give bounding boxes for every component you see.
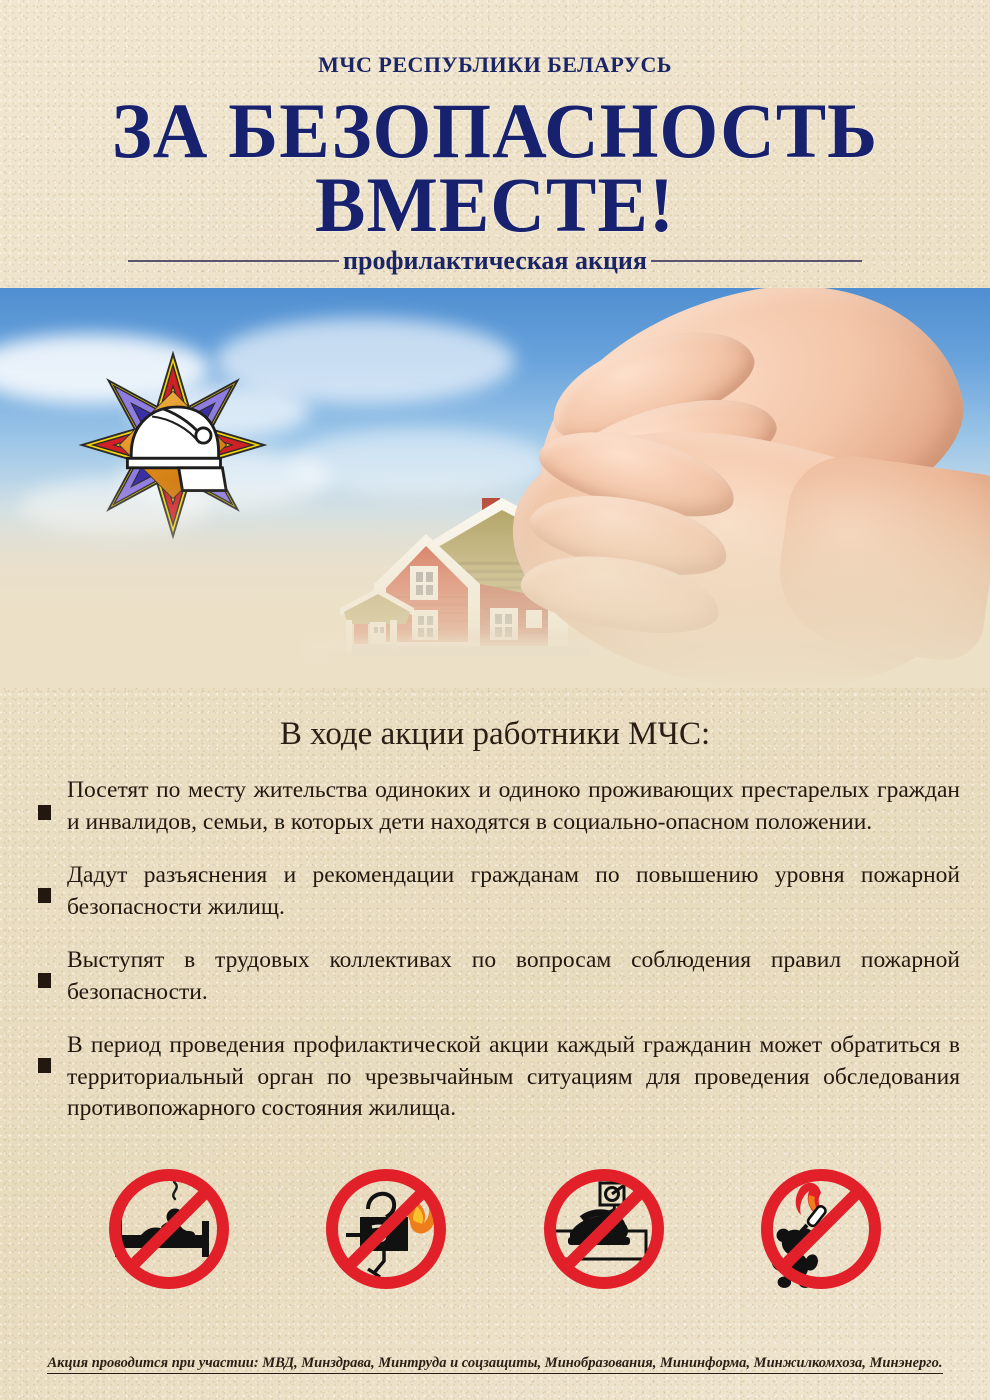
- prohibition-icon-row: [24, 1169, 966, 1289]
- no-children-with-matches-icon: [741, 1169, 901, 1289]
- no-unattended-iron-glyph: [524, 1169, 684, 1289]
- hero-photo-band: [0, 288, 990, 688]
- subtitle-text: профилактическая акция: [339, 246, 651, 276]
- bullet-list: Посетят по месту жительства одиноких и о…: [24, 775, 966, 1124]
- subtitle-rule-left: [128, 260, 339, 262]
- list-item-text: Выступят в трудовых коллективах по вопро…: [67, 945, 966, 1008]
- no-children-with-matches-glyph: [741, 1169, 901, 1289]
- bullet-square-icon: [38, 888, 51, 903]
- list-item-text: Дадут разъяснения и рекомендации граждан…: [67, 860, 966, 923]
- content-area: В ходе акции работники МЧС: Посетят по м…: [0, 716, 990, 1288]
- lead-heading: В ходе акции работники МЧС:: [24, 716, 966, 753]
- page-title: ЗА БЕЗОПАСНОСТЬ ВМЕСТЕ!: [15, 94, 975, 242]
- footer-note: Акция проводится при участии: МВД, Минзд…: [47, 1355, 942, 1374]
- subtitle-row: профилактическая акция: [0, 246, 990, 276]
- subtitle-rule-right: [651, 260, 862, 262]
- list-item: Выступят в трудовых коллективах по вопро…: [24, 945, 966, 1008]
- list-item: В период проведения профилактической акц…: [24, 1030, 966, 1124]
- footer: Акция проводится при участии: МВД, Минзд…: [0, 1354, 990, 1374]
- no-unattended-iron-icon: [524, 1169, 684, 1289]
- list-item-text: Посетят по месту жительства одиноких и о…: [67, 775, 966, 838]
- bullet-square-icon: [38, 805, 51, 820]
- no-faulty-heater-glyph: [306, 1169, 466, 1289]
- photo-bottom-fade: [0, 478, 990, 688]
- no-smoking-in-bed-icon: [89, 1169, 249, 1289]
- no-faulty-heater-icon: [306, 1169, 466, 1289]
- organization-line: МЧС РЕСПУБЛИКИ БЕЛАРУСЬ: [0, 0, 990, 78]
- bullet-square-icon: [38, 973, 51, 988]
- list-item: Дадут разъяснения и рекомендации граждан…: [24, 860, 966, 923]
- poster-page: МЧС РЕСПУБЛИКИ БЕЛАРУСЬ ЗА БЕЗОПАСНОСТЬ …: [0, 0, 990, 1400]
- bullet-square-icon: [38, 1058, 51, 1073]
- no-smoking-in-bed-glyph: [89, 1169, 249, 1289]
- list-item-text: В период проведения профилактической акц…: [67, 1030, 966, 1124]
- list-item: Посетят по месту жительства одиноких и о…: [24, 775, 966, 838]
